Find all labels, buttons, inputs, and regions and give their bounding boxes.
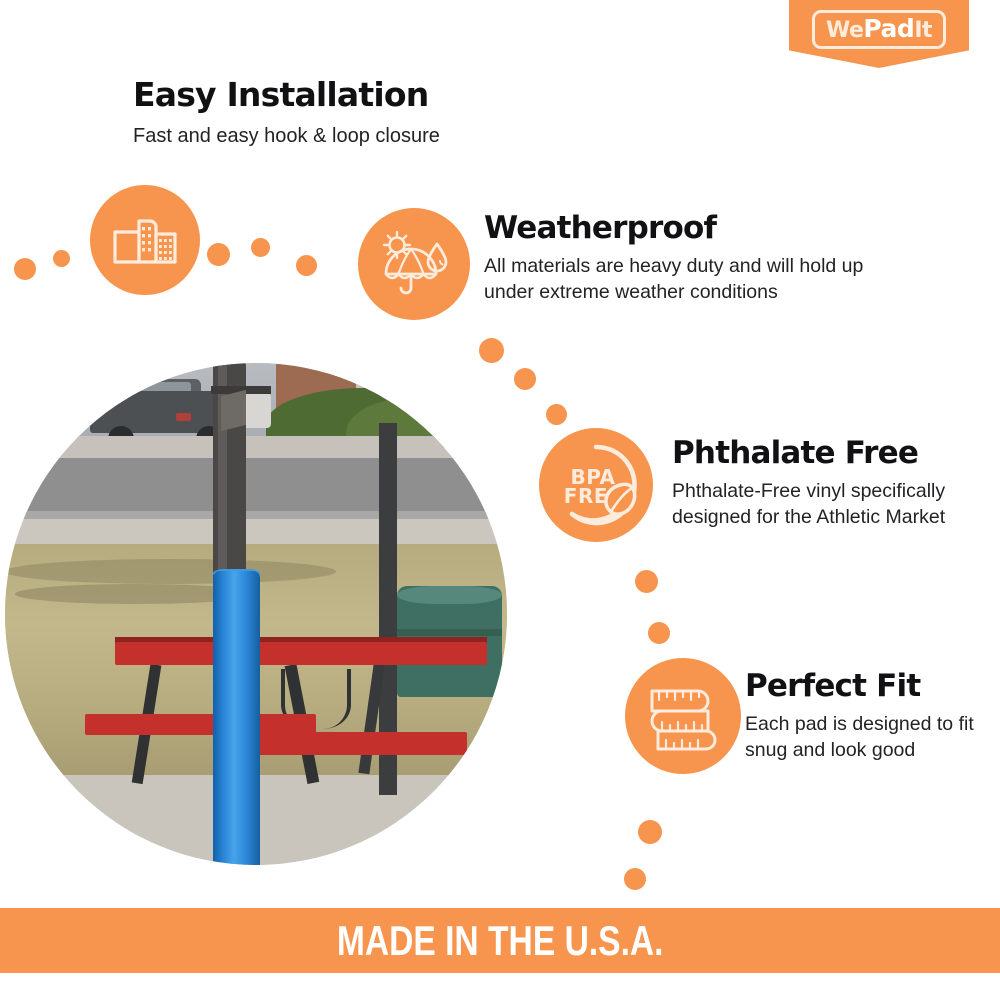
path-dot [479, 338, 504, 363]
measuring-tape-icon [640, 673, 726, 759]
path-dot [296, 255, 317, 276]
product-photo-circle [5, 363, 507, 865]
path-dot [648, 622, 670, 644]
made-in-usa-text: MADE IN THE U.S.A. [337, 917, 664, 965]
path-dot [14, 258, 36, 280]
wepadit-logo-badge: WePadIt [789, 0, 969, 68]
logo-frame: WePadIt [812, 10, 946, 49]
feature-block-phthalate-free: Phthalate Free Phthalate-Free vinyl spec… [672, 437, 972, 531]
path-dot [546, 404, 567, 425]
feature-block-weatherproof: Weatherproof All materials are heavy dut… [484, 212, 894, 306]
feature-description: Phthalate-Free vinyl specifically design… [672, 478, 972, 531]
feature-title: Weatherproof [484, 212, 894, 245]
feature-title: Easy Installation [133, 78, 593, 113]
icon-circle-weatherproof [358, 208, 470, 320]
logo-text-we: We [826, 18, 863, 43]
bpa-free-leaf-icon: BPA FREE [550, 439, 642, 531]
path-dot [514, 368, 536, 390]
feature-description: All materials are heavy duty and will ho… [484, 253, 894, 306]
icon-circle-phthalate-free: BPA FREE [539, 428, 653, 542]
logo-text-it: It [914, 18, 932, 43]
path-dot [207, 243, 230, 266]
feature-title: Phthalate Free [672, 437, 972, 470]
path-dot [53, 250, 70, 267]
blue-pole-pad [213, 571, 259, 865]
building-installation-icon [112, 212, 178, 268]
logo-text-pad: Pad [863, 14, 914, 43]
feature-block-easy-installation: Easy Installation Fast and easy hook & l… [133, 78, 593, 150]
infographic-page: WePadIt Easy Installation Fast and easy … [0, 0, 1000, 987]
icon-circle-easy-installation [90, 185, 200, 295]
feature-title: Perfect Fit [745, 670, 995, 703]
feature-description: Fast and easy hook & loop closure [133, 123, 593, 150]
path-dot [635, 570, 658, 593]
sun-umbrella-raindrop-icon [378, 230, 450, 298]
path-dot [638, 820, 662, 844]
feature-description: Each pad is designed to fit snug and loo… [745, 711, 995, 764]
feature-block-perfect-fit: Perfect Fit Each pad is designed to fit … [745, 670, 995, 764]
made-in-usa-banner: MADE IN THE U.S.A. [0, 908, 1000, 973]
path-dot [251, 238, 270, 257]
icon-circle-perfect-fit [625, 658, 741, 774]
path-dot [624, 868, 646, 890]
